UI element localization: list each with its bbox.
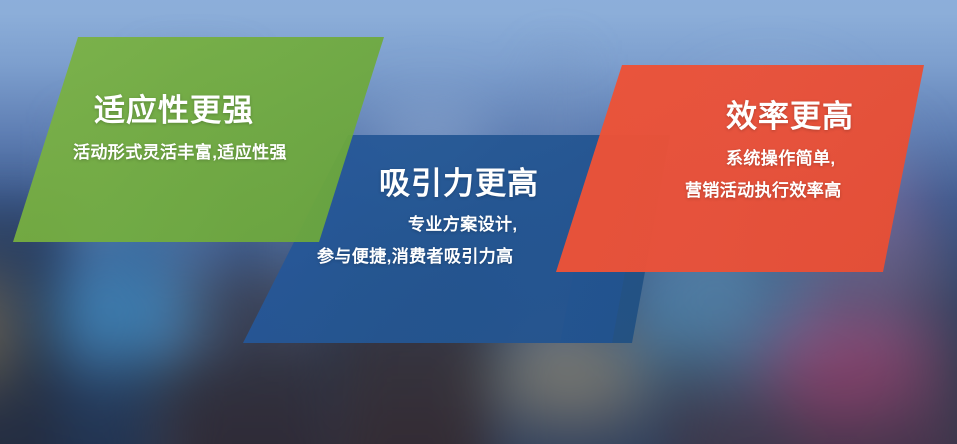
light-glow-magenta-1	[760, 310, 930, 420]
panel-subtitle-efficiency-line-2: 营销活动执行效率高	[685, 176, 842, 201]
panel-title-attractiveness: 吸引力更高	[379, 158, 539, 203]
panel-title-adaptability: 适应性更强	[94, 85, 254, 130]
panel-subtitle-adaptability-line-1: 活动形式灵活丰富,适应性强	[73, 138, 287, 163]
panel-subtitle-efficiency-line-1: 系统操作简单,	[726, 144, 836, 169]
feature-panel-efficiency[interactable]: 效率更高 系统操作简单, 营销活动执行效率高	[540, 58, 940, 283]
panel-subtitle-attractiveness-line-1: 专业方案设计,	[408, 210, 518, 235]
promo-banner: 适应性更强 活动形式灵活丰富,适应性强 吸引力更高 专业方案设计, 参与便捷,消…	[0, 0, 957, 444]
feature-panel-adaptability[interactable]: 适应性更强 活动形式灵活丰富,适应性强	[0, 30, 400, 250]
light-glow-cyan-1	[50, 270, 200, 360]
panel-title-efficiency: 效率更高	[726, 91, 854, 136]
